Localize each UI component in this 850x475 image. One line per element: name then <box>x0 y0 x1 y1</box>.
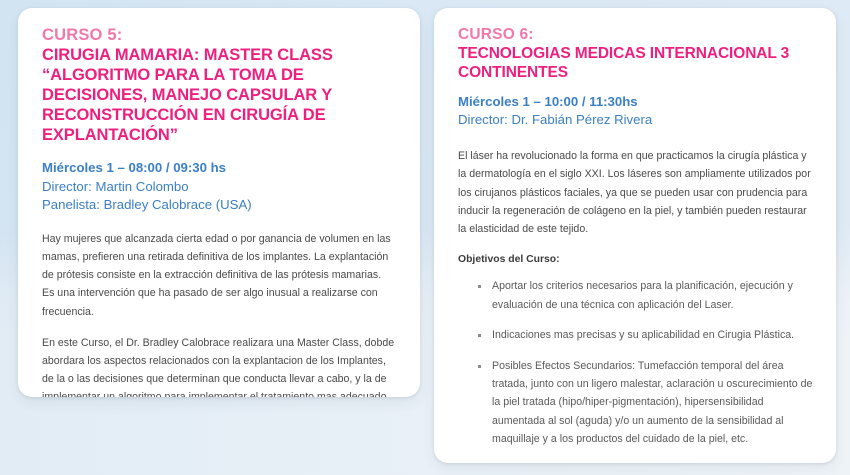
course-schedule: Miércoles 1 – 08:00 / 09:30 hs <box>42 159 396 177</box>
course-kicker: CURSO 6: <box>458 26 814 44</box>
objective-item: Posibles Efectos Secundarios: Tumefacció… <box>478 357 814 449</box>
course-meta: Miércoles 1 – 10:00 / 11:30hs Director: … <box>458 93 814 129</box>
objectives-heading: Objetivos del Curso: <box>458 254 814 265</box>
course-description: El láser ha revolucionado la forma en qu… <box>458 147 814 238</box>
course-schedule: Miércoles 1 – 10:00 / 11:30hs <box>458 93 814 111</box>
objective-item: Indicaciones mas precisas y su aplicabil… <box>478 326 814 344</box>
course-card-curso-6[interactable]: CURSO 6: TECNOLOGIAS MEDICAS INTERNACION… <box>434 8 836 463</box>
objectives-list: Aportar los criterios necesarios para la… <box>458 277 814 463</box>
course-cards-container: CURSO 5: CIRUGIA MAMARIA: MASTER CLASS “… <box>0 0 850 475</box>
course-title: CIRUGIA MAMARIA: MASTER CLASS “ALGORITMO… <box>42 46 396 145</box>
course-title: TECNOLOGIAS MEDICAS INTERNACIONAL 3 CONT… <box>458 45 814 83</box>
course-paragraph: Hay mujeres que alcanzada cierta edad o … <box>42 230 396 321</box>
course-card-curso-5[interactable]: CURSO 5: CIRUGIA MAMARIA: MASTER CLASS “… <box>18 8 420 397</box>
course-paragraph: El láser ha revolucionado la forma en qu… <box>458 147 814 238</box>
course-description: Hay mujeres que alcanzada cierta edad o … <box>42 230 396 397</box>
course-kicker: CURSO 5: <box>42 26 396 45</box>
course-meta: Miércoles 1 – 08:00 / 09:30 hs Director:… <box>42 159 396 213</box>
course-director: Director: Martin Colombo <box>42 178 396 196</box>
course-panelist: Panelista: Bradley Calobrace (USA) <box>42 196 396 214</box>
objective-item: Riesgos: Quemaduras o heridas provocadas… <box>478 461 814 463</box>
objective-item: Aportar los criterios necesarios para la… <box>478 277 814 314</box>
course-paragraph: En este Curso, el Dr. Bradley Calobrace … <box>42 334 396 397</box>
course-director: Director: Dr. Fabián Pérez Rivera <box>458 111 814 129</box>
